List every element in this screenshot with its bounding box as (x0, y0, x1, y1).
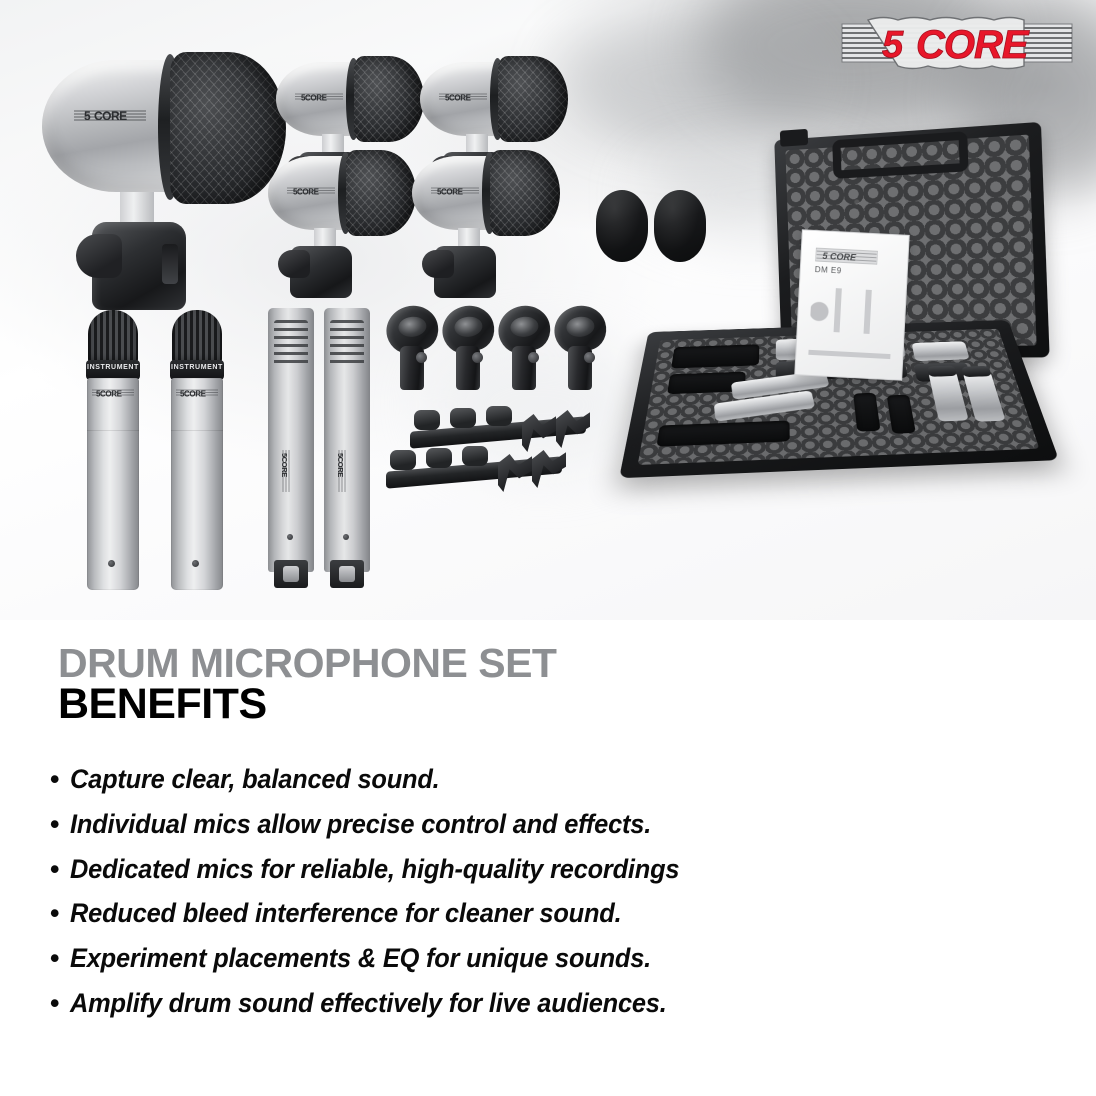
tom-mic-brand-logo: 5CORE (430, 184, 480, 196)
svg-text:5CORE: 5CORE (293, 188, 320, 197)
svg-text:5CORE: 5CORE (437, 188, 464, 197)
svg-text:5: 5 (882, 24, 904, 66)
manual-model-number: DM E9 (815, 265, 842, 275)
pencil-mic-vent-hole (287, 534, 293, 540)
bullet-glyph: • (50, 988, 70, 1019)
tom-mic-mesh-grille (346, 150, 416, 236)
microphone-clip-holder (498, 306, 550, 390)
case-handle (832, 131, 968, 179)
instrument-mic-body (87, 378, 139, 590)
kick-mic-mount-clip (92, 222, 186, 310)
svg-text:5: 5 (84, 109, 91, 123)
instrument-mic-body (171, 378, 223, 590)
foam-windscreen (596, 190, 648, 262)
carrying-case: 5 CORE DM E9 (650, 140, 1030, 510)
tom-microphone: 5CORE (268, 148, 406, 298)
manual-brand-logo: 5 CORE (815, 247, 878, 265)
product-marketing-page: 5 CORE 5 CORE (0, 0, 1096, 1096)
svg-text:5 CORE: 5 CORE (822, 251, 857, 263)
instrument-mic-vent-hole (108, 560, 115, 567)
tom-mic-brand-logo: 5CORE (438, 90, 488, 102)
bullet-glyph: • (50, 943, 70, 974)
bullet-glyph: • (50, 809, 70, 840)
pencil-mic-brand-logo: 5CORE (336, 448, 348, 494)
svg-text:5CORE: 5CORE (280, 453, 289, 477)
rim-mount-knob (450, 408, 476, 428)
svg-text:5CORE: 5CORE (96, 390, 123, 399)
instruction-manual: 5 CORE DM E9 (794, 229, 909, 380)
instrument-mic-label: INSTRUMENT (170, 364, 224, 371)
list-item: • Individual mics allow precise control … (50, 809, 1050, 840)
stored-pencil-mic-grille (961, 366, 992, 377)
tom-mic-mount-clip (290, 246, 352, 298)
bullet-glyph: • (50, 764, 70, 795)
pencil-mic-connector-base (330, 560, 364, 588)
benefit-text: Capture clear, balanced sound. (70, 764, 440, 795)
benefits-section: DRUM MICROPHONE SET BENEFITS • Capture c… (0, 624, 1096, 1096)
svg-text:5CORE: 5CORE (180, 390, 207, 399)
list-item: • Experiment placements & EQ for unique … (50, 943, 1050, 974)
instrument-microphone: INSTRUMENT 5CORE (82, 310, 144, 590)
mic-clip-stem (400, 346, 424, 390)
mic-clip-stem (512, 346, 536, 390)
benefit-text: Individual mics allow precise control an… (70, 809, 651, 840)
rim-mount-knob (462, 446, 488, 466)
list-item: • Dedicated mics for reliable, high-qual… (50, 854, 1050, 885)
bullet-glyph: • (50, 854, 70, 885)
pencil-mic-vent-hole (343, 534, 349, 540)
tom-mic-brand-logo: 5CORE (294, 90, 344, 102)
rim-mount-knob (414, 410, 440, 430)
pencil-mic-grille-slots (330, 320, 364, 368)
benefit-text: Amplify drum sound effectively for live … (70, 988, 667, 1019)
rim-mount-knob (486, 406, 512, 426)
svg-text:5CORE: 5CORE (301, 94, 328, 103)
svg-text:5CORE: 5CORE (445, 94, 472, 103)
microphone-clip-holder (442, 306, 494, 390)
pencil-condenser-microphone: 5CORE (324, 308, 370, 588)
instrument-mic-collar: INSTRUMENT (86, 360, 140, 380)
pencil-mic-connector-base (274, 560, 308, 588)
benefits-list: • Capture clear, balanced sound. • Indiv… (50, 764, 1050, 1033)
case-latch (780, 129, 808, 147)
tom-mic-brand-logo: 5CORE (286, 184, 336, 196)
manual-caption-line (808, 350, 890, 359)
foam-cutout (671, 344, 759, 368)
mic-clip-stem (568, 346, 592, 390)
kick-drum-microphone: 5 CORE (40, 44, 266, 294)
pencil-mic-brand-logo: 5CORE (280, 448, 292, 494)
rim-mount-knob (390, 450, 416, 470)
list-item: • Reduced bleed interference for cleaner… (50, 898, 1050, 929)
svg-text:5CORE: 5CORE (336, 453, 345, 477)
bullet-glyph: • (50, 898, 70, 929)
tom-microphone: 5CORE (412, 148, 550, 298)
tom-mic-mount-clip (434, 246, 496, 298)
list-item: • Capture clear, balanced sound. (50, 764, 1050, 795)
rim-mount-hook (556, 410, 590, 448)
pencil-condenser-microphone: 5CORE (268, 308, 314, 588)
page-title-sub: BENEFITS (58, 680, 267, 729)
tom-mic-mesh-grille (354, 56, 424, 142)
tom-mic-mesh-grille (498, 56, 568, 142)
microphone-clip-holder (386, 306, 438, 390)
stored-tom-microphone (912, 341, 970, 361)
instrument-mic-grille (172, 310, 222, 366)
drum-rim-mount (386, 448, 586, 502)
rim-mount-hook (532, 450, 566, 488)
manual-product-illustration (810, 287, 896, 335)
instrument-mic-brand-logo: 5CORE (91, 386, 135, 398)
instrument-mic-label: INSTRUMENT (86, 364, 140, 371)
list-item: • Amplify drum sound effectively for liv… (50, 988, 1050, 1019)
instrument-mic-collar: INSTRUMENT (170, 360, 224, 380)
background-blur-shape (560, 20, 820, 140)
instrument-mic-vent-hole (192, 560, 199, 567)
rim-mount-knob (426, 448, 452, 468)
benefit-text: Reduced bleed interference for cleaner s… (70, 898, 621, 929)
stored-pencil-mic-grille (927, 366, 957, 377)
svg-text:CORE: CORE (916, 23, 1030, 67)
benefit-text: Dedicated mics for reliable, high-qualit… (70, 854, 679, 885)
mic-clip-stem (456, 346, 480, 390)
instrument-microphone: INSTRUMENT 5CORE (166, 310, 228, 590)
tom-mic-mesh-grille (490, 150, 560, 236)
instrument-mic-brand-logo: 5CORE (175, 386, 219, 398)
instrument-mic-grille (88, 310, 138, 366)
microphone-clip-holder (554, 306, 606, 390)
svg-text:CORE: CORE (94, 109, 127, 123)
kick-mic-brand-logo: 5 CORE (72, 106, 148, 124)
brand-logo-5core: 5 CORE (838, 14, 1076, 72)
benefit-text: Experiment placements & EQ for unique so… (70, 943, 651, 974)
pencil-mic-grille-slots (274, 320, 308, 368)
hero-product-photo: 5 CORE 5 CORE (0, 0, 1096, 620)
